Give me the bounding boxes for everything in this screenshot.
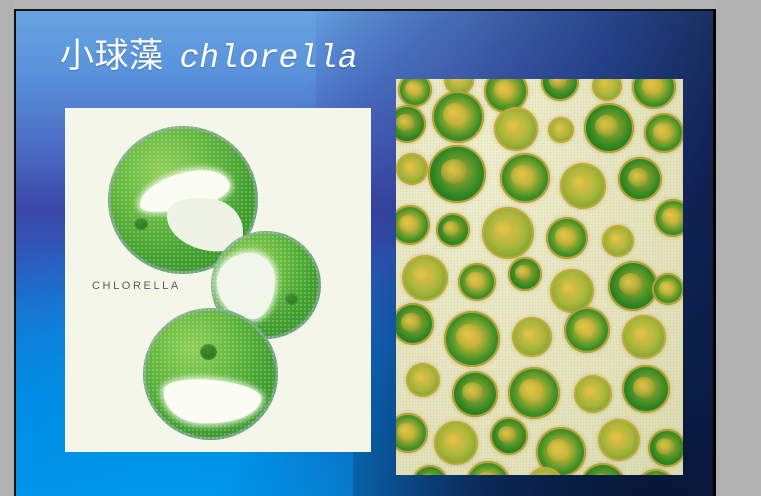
micrograph-cell xyxy=(428,145,486,203)
micrograph-cell xyxy=(508,257,542,291)
micrograph-cell xyxy=(512,317,552,357)
cell-nucleus-lower xyxy=(200,344,217,360)
frame-gray-right xyxy=(716,0,761,496)
frame-gray-top xyxy=(0,0,761,9)
micrograph-cell xyxy=(444,311,500,367)
micrograph-cell xyxy=(500,153,550,203)
illustration-caption: CHLORELLA xyxy=(92,280,181,292)
cell-nucleus-upper xyxy=(134,218,148,230)
micrograph-cell xyxy=(602,225,634,257)
micrograph-cell xyxy=(574,375,612,413)
micrograph-cell xyxy=(598,419,640,461)
micrograph-cell xyxy=(560,163,606,209)
micrograph-cell xyxy=(452,371,498,417)
micrograph-cell xyxy=(402,255,448,301)
micrograph-cell xyxy=(622,315,666,359)
micrograph-cell xyxy=(432,91,484,143)
micrograph-cell xyxy=(508,367,560,419)
chlorella-cell-lower xyxy=(143,308,278,440)
slide-title: 小球藻chlorella xyxy=(60,36,358,79)
micrograph-cell xyxy=(546,217,588,259)
presentation-slide[interactable]: 小球藻chlorella CHLORELLA xyxy=(14,9,713,496)
slide-viewer: 小球藻chlorella CHLORELLA xyxy=(0,0,761,496)
micrograph-cell xyxy=(608,261,658,311)
micrograph-cell xyxy=(406,363,440,397)
micrograph-cell xyxy=(622,365,670,413)
chlorella-illustration-image[interactable]: CHLORELLA xyxy=(65,108,371,452)
micrograph-cell xyxy=(652,273,683,305)
micrograph-cell xyxy=(494,107,538,151)
micrograph-cell xyxy=(436,213,470,247)
slide-title-cjk: 小球藻 xyxy=(60,38,164,75)
micrograph-cell xyxy=(564,307,610,353)
micrograph-cell xyxy=(434,421,478,465)
chlorella-micrograph-image[interactable] xyxy=(396,79,683,475)
frame-gray-left xyxy=(0,0,14,496)
micrograph-cell xyxy=(584,103,634,153)
micrograph-cell xyxy=(548,117,574,143)
micrograph-cell xyxy=(618,157,662,201)
micrograph-cell xyxy=(458,263,496,301)
slide-title-latin: chlorella xyxy=(180,40,358,77)
micrograph-cell xyxy=(396,153,428,185)
micrograph-cell xyxy=(648,429,683,467)
micrograph-cell xyxy=(490,417,528,455)
micrograph-cell xyxy=(482,207,534,259)
micrograph-cell xyxy=(644,113,683,153)
cell-nucleus-middle xyxy=(285,293,298,305)
